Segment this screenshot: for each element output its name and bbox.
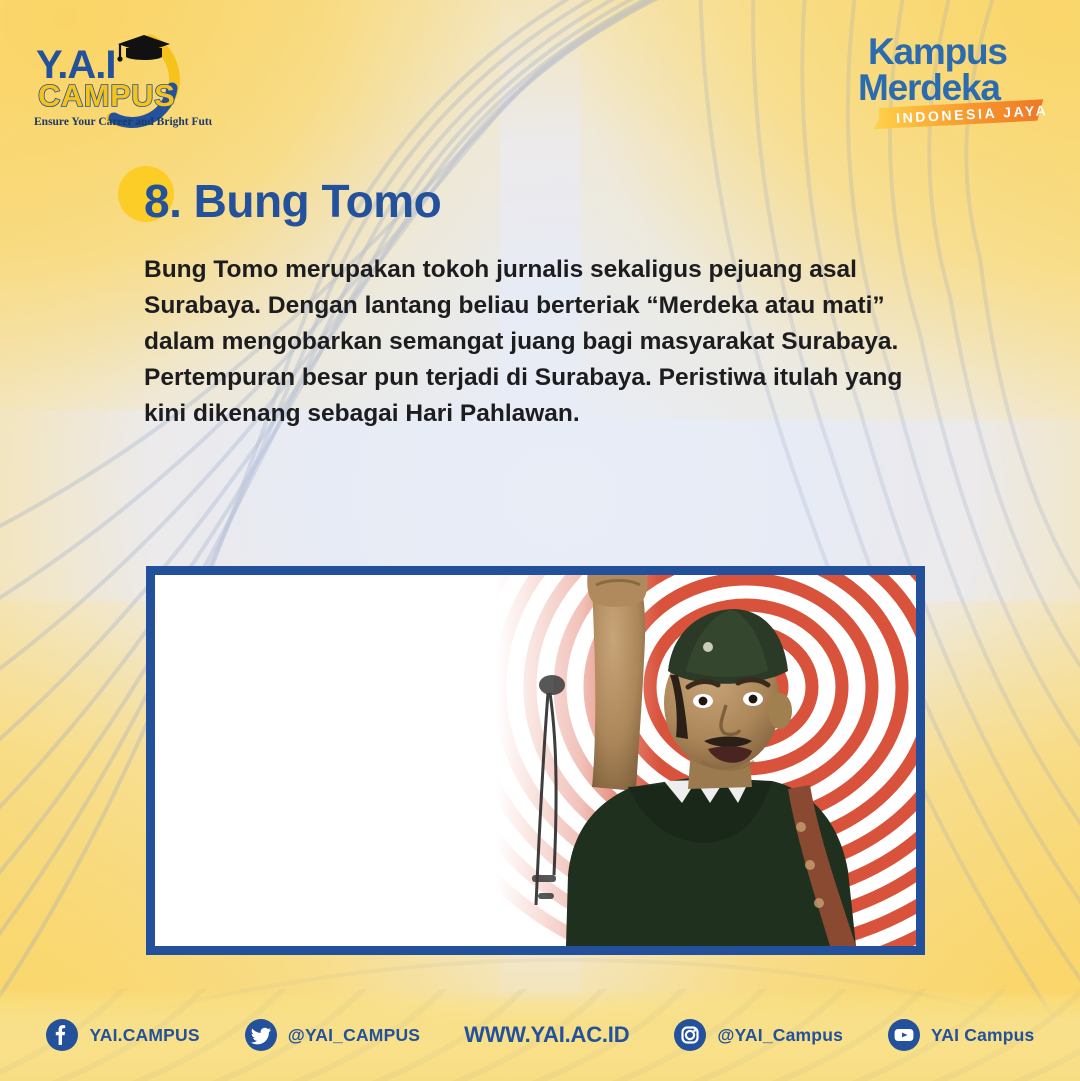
- youtube-icon: [887, 1018, 921, 1052]
- photo-frame: [146, 566, 925, 955]
- social-label-instagram: @YAI_Campus: [717, 1025, 843, 1046]
- svg-text:Merdeka: Merdeka: [858, 67, 1001, 108]
- kampus-merdeka-logo: Kampus Merdeka INDONESIA JAYA: [854, 22, 1054, 130]
- svg-text:Kampus: Kampus: [868, 31, 1007, 72]
- page-title: 8. Bung Tomo: [118, 166, 441, 236]
- bung-tomo-photo: [496, 575, 916, 946]
- social-link-facebook[interactable]: YAI.CAMPUS: [45, 1018, 199, 1052]
- social-link-twitter[interactable]: @YAI_CAMPUS: [244, 1018, 420, 1052]
- facebook-icon: [45, 1018, 79, 1052]
- body-paragraph: Bung Tomo merupakan tokoh jurnalis sekal…: [144, 252, 916, 432]
- social-label-facebook: YAI.CAMPUS: [89, 1025, 199, 1046]
- title-text: 8. Bung Tomo: [144, 174, 441, 228]
- social-label-twitter: @YAI_CAMPUS: [288, 1025, 420, 1046]
- poster-canvas: Y.A.I CAMPUS Ensure Your Career and Brig…: [0, 0, 1080, 1081]
- social-link-youtube[interactable]: YAI Campus: [887, 1018, 1034, 1052]
- social-link-instagram[interactable]: @YAI_Campus: [673, 1018, 843, 1052]
- social-links-row: YAI.CAMPUS @YAI_CAMPUS WWW.YAI.AC.ID: [0, 989, 1080, 1081]
- svg-text:CAMPUS: CAMPUS: [38, 78, 175, 113]
- yai-campus-logo: Y.A.I CAMPUS Ensure Your Career and Brig…: [22, 22, 212, 134]
- website-url[interactable]: WWW.YAI.AC.ID: [464, 1022, 629, 1048]
- svg-text:Ensure Your Career and Bright: Ensure Your Career and Bright Future: [34, 116, 212, 128]
- social-label-youtube: YAI Campus: [931, 1025, 1034, 1046]
- body-text: Bung Tomo merupakan tokoh jurnalis sekal…: [144, 252, 916, 432]
- instagram-icon: [673, 1018, 707, 1052]
- twitter-icon: [244, 1018, 278, 1052]
